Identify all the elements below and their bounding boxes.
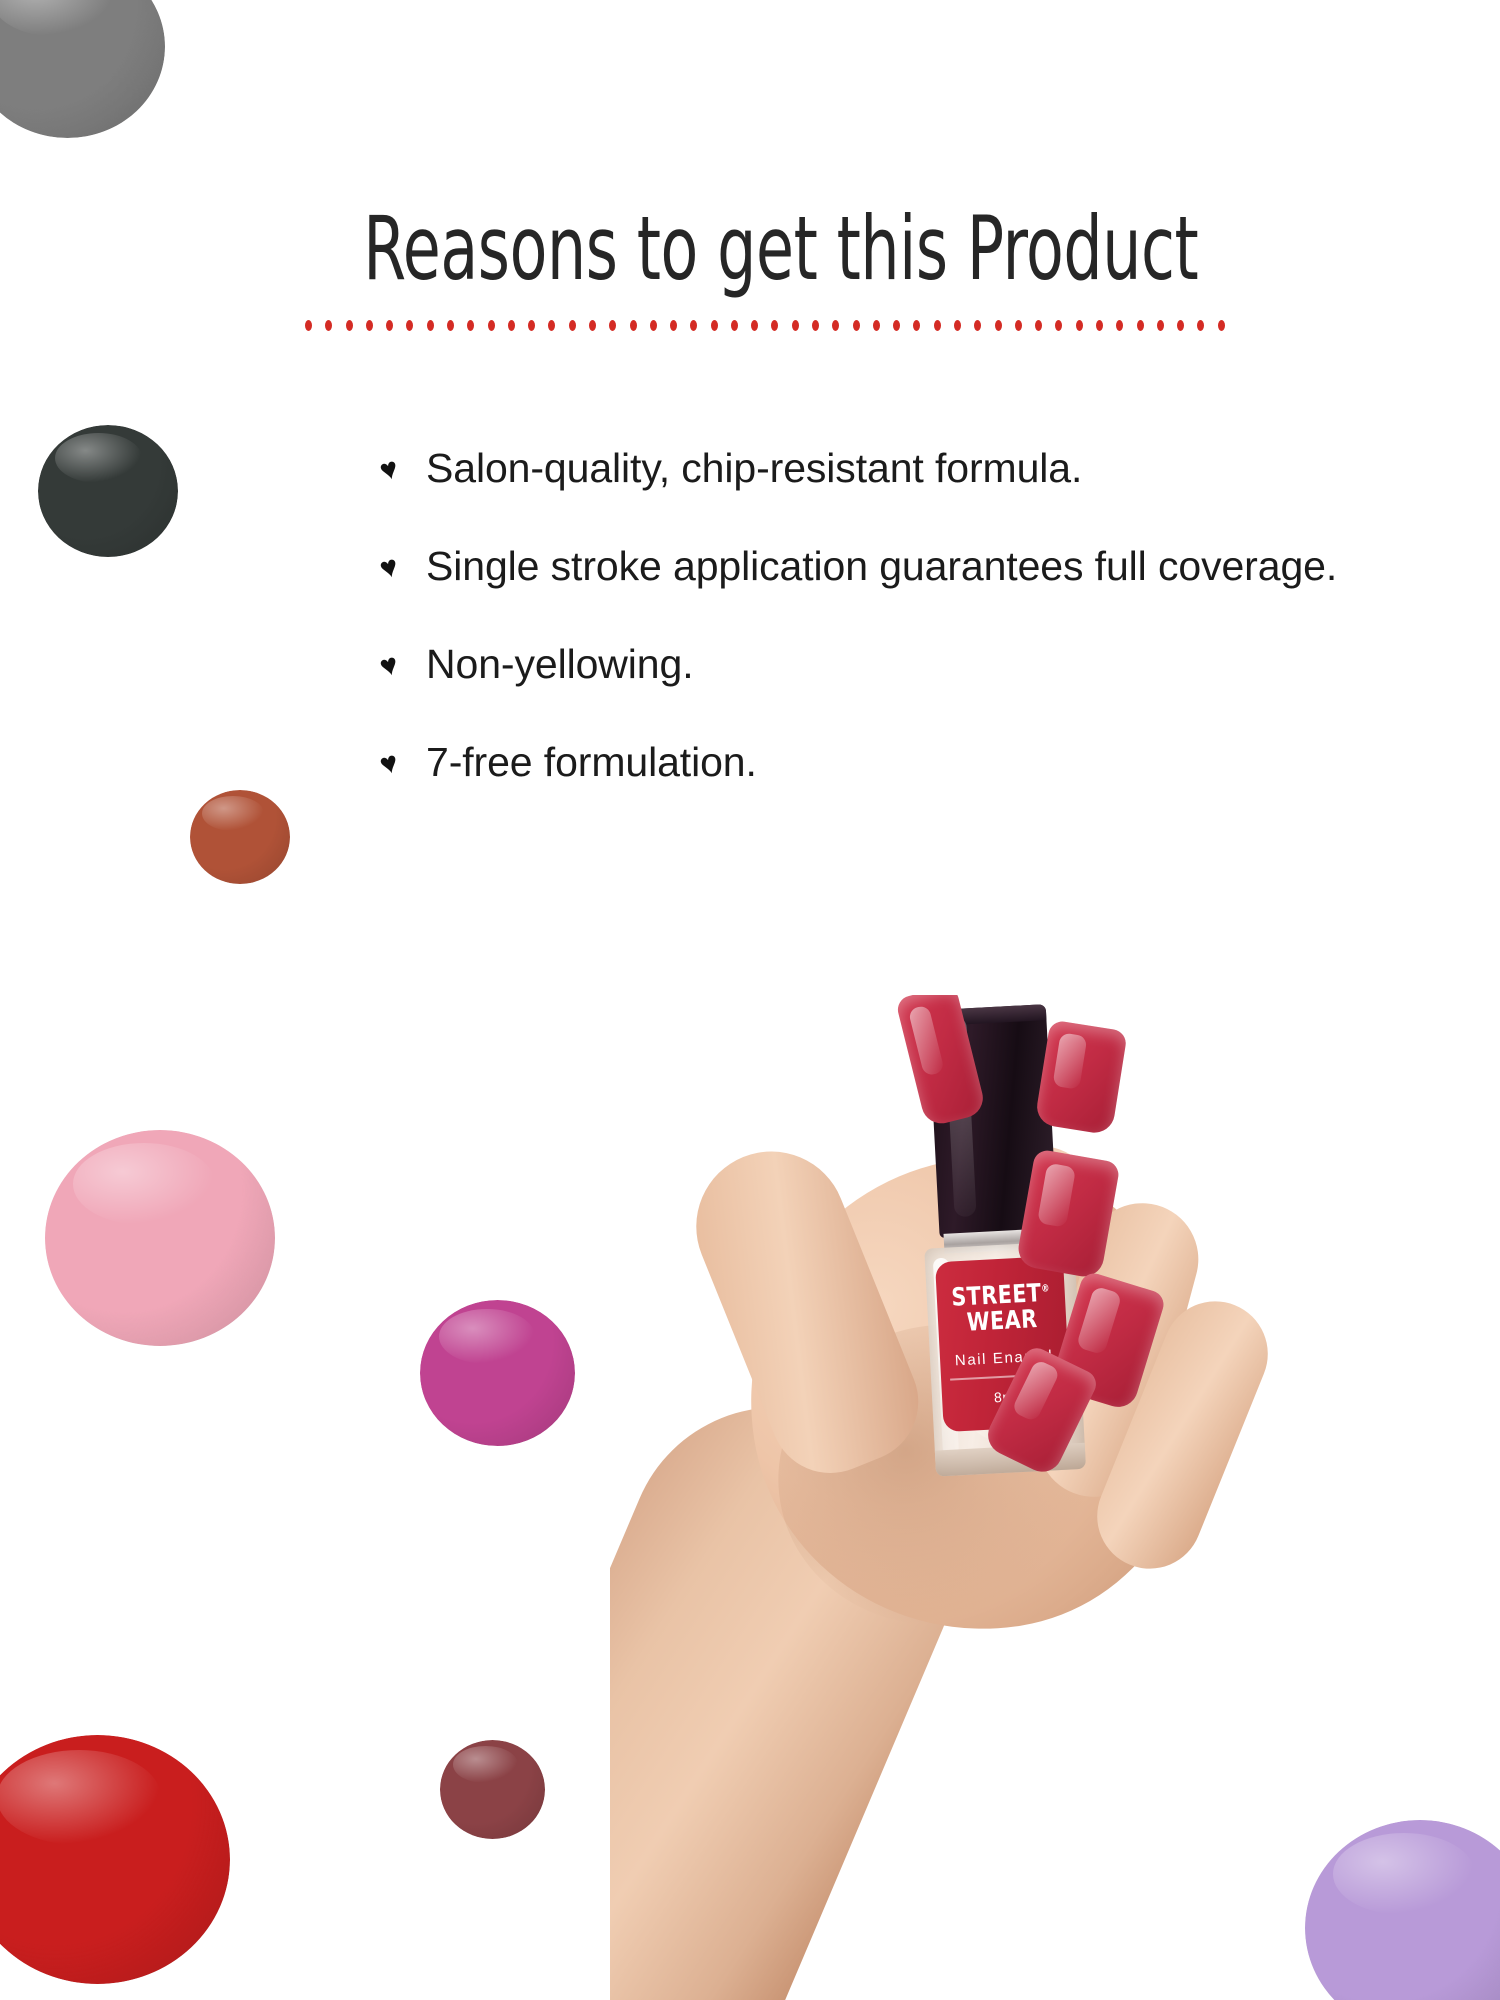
heart-bullet-icon: ♥ xyxy=(373,730,421,793)
divider-dot xyxy=(1116,320,1123,331)
divider-dot xyxy=(589,320,596,331)
divider-dot xyxy=(690,320,697,331)
divider-dot xyxy=(609,320,616,331)
benefit-item: ♥Single stroke application guarantees fu… xyxy=(380,538,1340,594)
brand-name-line-2: WEAR xyxy=(943,1305,1062,1337)
divider-dot xyxy=(1177,320,1184,331)
divider-dot xyxy=(325,320,332,331)
heart-bullet-icon: ♥ xyxy=(373,534,421,597)
registered-trademark-icon: ® xyxy=(1041,1283,1050,1294)
divider-dot xyxy=(548,320,555,331)
dotted-divider xyxy=(305,319,1225,331)
divider-dot xyxy=(974,320,981,331)
divider-dot xyxy=(630,320,637,331)
divider-dot xyxy=(954,320,961,331)
benefit-text: Non-yellowing. xyxy=(426,636,1340,692)
page-title: Reasons to get this Product xyxy=(363,205,1166,293)
divider-dot xyxy=(792,320,799,331)
divider-dot xyxy=(366,320,373,331)
color-swatch-magenta xyxy=(420,1300,575,1446)
swatch-fill xyxy=(0,0,165,138)
swatch-fill xyxy=(0,1735,230,1984)
product-photo: STREET® WEAR Nail Enamel 8ml xyxy=(610,995,1500,2000)
divider-dot xyxy=(406,320,413,331)
divider-dot xyxy=(893,320,900,331)
divider-dot xyxy=(934,320,941,331)
divider-dot xyxy=(508,320,515,331)
divider-dot xyxy=(1197,320,1204,331)
divider-dot xyxy=(346,320,353,331)
divider-dot xyxy=(528,320,535,331)
divider-dot xyxy=(1096,320,1103,331)
divider-dot xyxy=(569,320,576,331)
benefit-text: 7-free formulation. xyxy=(426,734,1340,790)
benefits-list: ♥Salon-quality, chip-resistant formula.♥… xyxy=(380,440,1340,832)
color-swatch-maroon xyxy=(440,1740,545,1839)
benefit-text: Salon-quality, chip-resistant formula. xyxy=(426,440,1340,496)
divider-dot xyxy=(386,320,393,331)
color-swatch-gray xyxy=(0,0,165,138)
divider-dot xyxy=(305,320,312,331)
divider-dot xyxy=(1137,320,1144,331)
divider-dot xyxy=(650,320,657,331)
divider-dot xyxy=(832,320,839,331)
color-swatch-soft-pink xyxy=(45,1130,275,1346)
benefit-item: ♥7-free formulation. xyxy=(380,734,1340,790)
divider-dot xyxy=(670,320,677,331)
swatch-fill xyxy=(440,1740,545,1839)
swatch-fill xyxy=(45,1130,275,1346)
divider-dot xyxy=(711,320,718,331)
heart-bullet-icon: ♥ xyxy=(373,632,421,695)
divider-dot xyxy=(913,320,920,331)
promo-canvas: Reasons to get this Product ♥Salon-quali… xyxy=(0,0,1500,2000)
divider-dot xyxy=(751,320,758,331)
divider-dot xyxy=(812,320,819,331)
divider-dot xyxy=(488,320,495,331)
divider-dot xyxy=(1015,320,1022,331)
color-swatch-charcoal xyxy=(38,425,178,557)
benefit-item: ♥Non-yellowing. xyxy=(380,636,1340,692)
color-swatch-terracotta xyxy=(190,790,290,884)
divider-dot xyxy=(467,320,474,331)
headline-block: Reasons to get this Product xyxy=(250,205,1280,331)
divider-dot xyxy=(447,320,454,331)
swatch-fill xyxy=(190,790,290,884)
heart-bullet-icon: ♥ xyxy=(373,436,421,499)
divider-dot xyxy=(1157,320,1164,331)
divider-dot xyxy=(1076,320,1083,331)
swatch-fill xyxy=(420,1300,575,1446)
divider-dot xyxy=(1055,320,1062,331)
color-swatch-red xyxy=(0,1735,230,1984)
divider-dot xyxy=(1035,320,1042,331)
divider-dot xyxy=(873,320,880,331)
divider-dot xyxy=(731,320,738,331)
divider-dot xyxy=(995,320,1002,331)
divider-dot xyxy=(771,320,778,331)
benefit-text: Single stroke application guarantees ful… xyxy=(426,538,1340,594)
swatch-fill xyxy=(38,425,178,557)
divider-dot xyxy=(1218,320,1225,331)
nail-middle xyxy=(1034,1020,1127,1136)
divider-dot xyxy=(427,320,434,331)
benefit-item: ♥Salon-quality, chip-resistant formula. xyxy=(380,440,1340,496)
divider-dot xyxy=(853,320,860,331)
